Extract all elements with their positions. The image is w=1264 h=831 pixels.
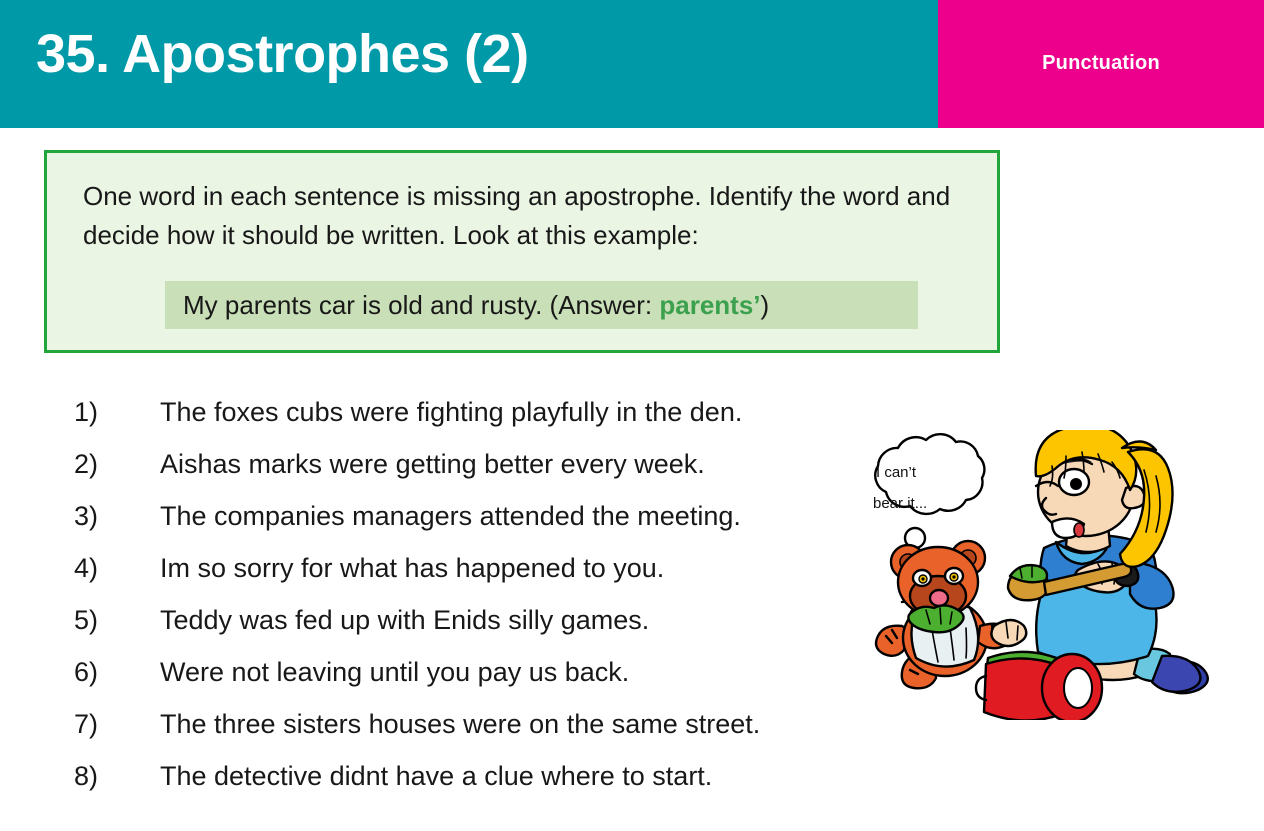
question-row: 8) The detective didnt have a clue where… (0, 750, 860, 802)
question-text: The companies managers attended the meet… (160, 501, 741, 532)
question-row: 2) Aishas marks were getting better ever… (0, 438, 860, 490)
illustration-girl-feeding-teddy: I can’t bear it... (840, 430, 1260, 720)
example-sentence: My parents car is old and rusty. (Answer… (183, 290, 769, 321)
example-sentence-lead: My parents car is old and rusty. (Answer… (183, 290, 659, 320)
question-number: 4) (74, 553, 134, 584)
question-number: 5) (74, 605, 134, 636)
question-number: 2) (74, 449, 134, 480)
instruction-box: One word in each sentence is missing an … (44, 150, 1000, 353)
question-text: The foxes cubs were fighting playfully i… (160, 397, 742, 428)
question-number: 6) (74, 657, 134, 688)
question-text: The three sisters houses were on the sam… (160, 709, 760, 740)
food-pot (976, 652, 1102, 720)
page-header: 35. Apostrophes (2) Punctuation (0, 0, 1264, 128)
question-row: 1) The foxes cubs were fighting playfull… (0, 386, 860, 438)
question-text: Aishas marks were getting better every w… (160, 449, 705, 480)
question-number: 3) (74, 501, 134, 532)
question-text: Teddy was fed up with Enids silly games. (160, 605, 649, 636)
page-title: 35. Apostrophes (2) (36, 26, 529, 83)
question-list: 1) The foxes cubs were fighting playfull… (0, 386, 860, 802)
question-row: 6) Were not leaving until you pay us bac… (0, 646, 860, 698)
example-answer-word: parents’ (659, 290, 760, 320)
question-text: Im so sorry for what has happened to you… (160, 553, 664, 584)
category-label: Punctuation (938, 52, 1264, 75)
instruction-text: One word in each sentence is missing an … (83, 177, 983, 255)
thought-line-2: bear it... (873, 495, 927, 512)
question-number: 8) (74, 761, 134, 792)
example-closing-paren: ) (761, 290, 770, 320)
question-number: 1) (74, 397, 134, 428)
question-row: 5) Teddy was fed up with Enids silly gam… (0, 594, 860, 646)
thought-line-1: I can’t (876, 464, 917, 481)
question-number: 7) (74, 709, 134, 740)
question-text: Were not leaving until you pay us back. (160, 657, 629, 688)
question-row: 3) The companies managers attended the m… (0, 490, 860, 542)
question-text: The detective didnt have a clue where to… (160, 761, 712, 792)
question-row: 7) The three sisters houses were on the … (0, 698, 860, 750)
question-row: 4) Im so sorry for what has happened to … (0, 542, 860, 594)
example-band: My parents car is old and rusty. (Answer… (165, 281, 918, 329)
